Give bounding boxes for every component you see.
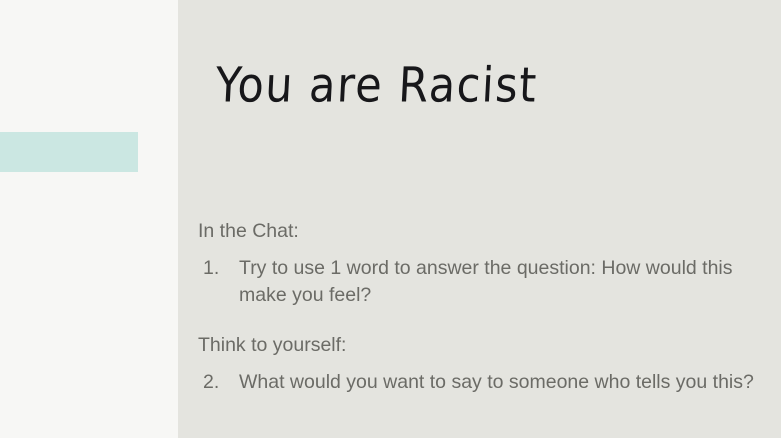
slide-left-panel <box>0 0 178 438</box>
slide-title: You are Racist <box>214 58 539 114</box>
accent-bar <box>0 132 138 172</box>
list-item-text: Try to use 1 word to answer the question… <box>239 255 764 309</box>
slide-body: In the Chat: 1. Try to use 1 word to ans… <box>194 218 764 396</box>
numbered-list-chat: 1. Try to use 1 word to answer the quest… <box>194 255 764 309</box>
list-item: 2. What would you want to say to someone… <box>194 369 764 396</box>
slide-content-panel: You are Racist In the Chat: 1. Try to us… <box>178 0 781 438</box>
list-item: 1. Try to use 1 word to answer the quest… <box>194 255 764 309</box>
list-item-number: 2. <box>203 369 233 396</box>
list-item-number: 1. <box>203 255 233 282</box>
presentation-slide: You are Racist In the Chat: 1. Try to us… <box>0 0 781 438</box>
section-lead-in-the-chat: In the Chat: <box>194 218 764 244</box>
list-item-text: What would you want to say to someone wh… <box>239 369 764 396</box>
section-lead-think-to-yourself: Think to yourself: <box>194 332 764 358</box>
numbered-list-think: 2. What would you want to say to someone… <box>194 369 764 396</box>
